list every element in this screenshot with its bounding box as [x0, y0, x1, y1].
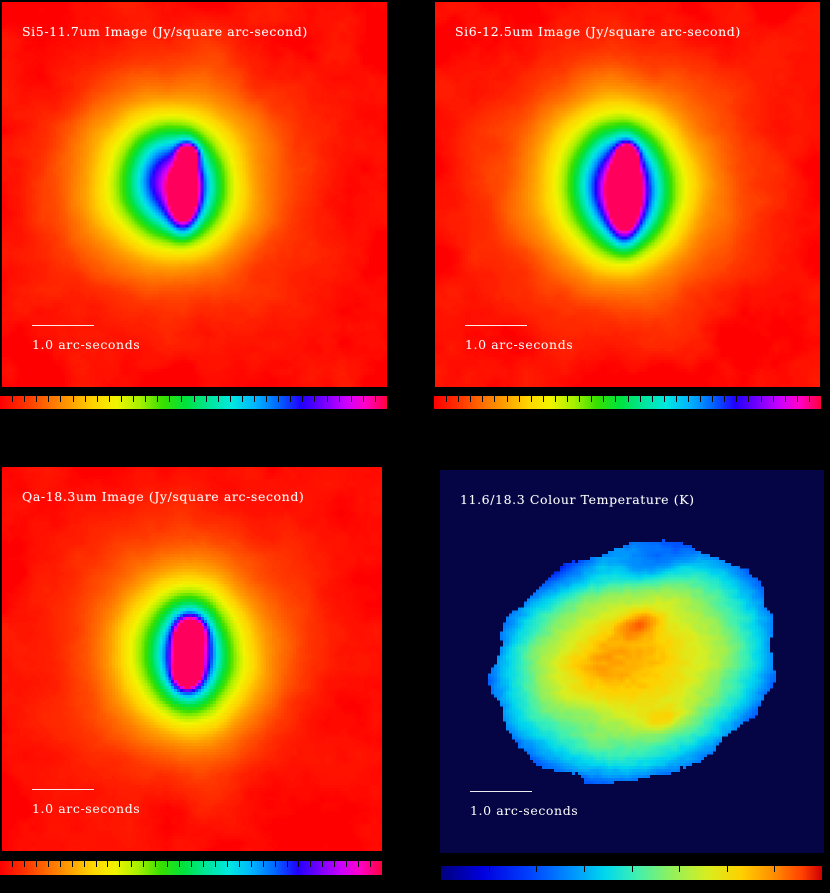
panel-si6-12-5um[interactable]: Si6-12.5um Image (Jy/square arc-second) …: [435, 2, 820, 387]
colorbar-gradient: [441, 866, 822, 880]
scale-bar: 1.0 arc-seconds: [32, 789, 140, 816]
panel-colour-temperature[interactable]: 11.6/18.3 Colour Temperature (K) 1.0 arc…: [440, 470, 824, 853]
scale-bar-line: [465, 325, 527, 326]
panel-title: Si6-12.5um Image (Jy/square arc-second): [455, 24, 741, 39]
colorbar-gradient: [0, 861, 382, 875]
colorbar-gradient: [434, 396, 821, 409]
scale-bar: 1.0 arc-seconds: [32, 325, 140, 352]
scale-bar-line: [32, 325, 94, 326]
colorbar-si5-11-7um[interactable]: [0, 396, 387, 409]
panel-title: Si5-11.7um Image (Jy/square arc-second): [22, 24, 308, 39]
panel-title: Qa-18.3um Image (Jy/square arc-second): [22, 489, 304, 504]
panel-qa-18-3um[interactable]: Qa-18.3um Image (Jy/square arc-second) 1…: [2, 467, 382, 851]
scale-bar-label: 1.0 arc-seconds: [470, 803, 578, 818]
figure-root: Si5-11.7um Image (Jy/square arc-second) …: [0, 0, 830, 893]
colorbar-si6-12-5um[interactable]: [434, 396, 821, 409]
scale-bar-label: 1.0 arc-seconds: [32, 337, 140, 352]
colorbar-gradient: [0, 396, 387, 409]
scale-bar-line: [32, 789, 94, 790]
scale-bar-line: [470, 791, 532, 792]
scale-bar: 1.0 arc-seconds: [470, 791, 578, 818]
panel-si5-11-7um[interactable]: Si5-11.7um Image (Jy/square arc-second) …: [2, 2, 387, 387]
colorbar-qa-18-3um[interactable]: [0, 861, 382, 875]
colorbar-colour-temperature[interactable]: [441, 866, 822, 880]
panel-title: 11.6/18.3 Colour Temperature (K): [460, 492, 695, 507]
scale-bar-label: 1.0 arc-seconds: [465, 337, 573, 352]
scale-bar: 1.0 arc-seconds: [465, 325, 573, 352]
scale-bar-label: 1.0 arc-seconds: [32, 801, 140, 816]
